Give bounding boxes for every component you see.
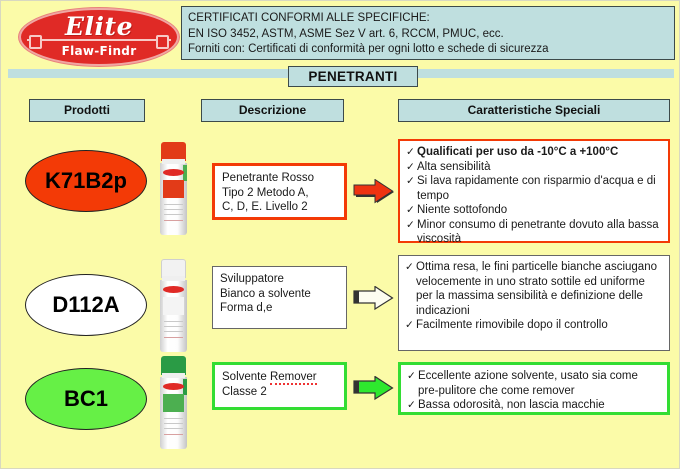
certification-box: CERTIFICATI CONFORMI ALLE SPECIFICHE: EN… [181, 6, 675, 60]
description-line: Sviluppatore [220, 272, 339, 287]
can-brand-label [163, 286, 184, 293]
can-text-lines [164, 202, 183, 228]
arrow-right-icon-0 [353, 179, 397, 205]
description-line: Solvente Remover [222, 370, 337, 385]
can-brand-label [163, 383, 184, 390]
spray-can-image-2 [159, 356, 188, 449]
description-box-0: Penetrante Rosso Tipo 2 Metodo A, C, D, … [212, 163, 347, 220]
product-oval-2: BC1 [25, 368, 147, 430]
feature-item: ✓ Niente sottofondo [406, 203, 662, 218]
check-icon: ✓ [406, 174, 417, 189]
certification-line-3: Forniti con: Certificati di conformità p… [188, 42, 674, 58]
column-header-features: Caratteristiche Speciali [398, 99, 670, 122]
feature-text: Minor consumo di penetrante dovuto alla … [417, 218, 662, 247]
feature-item: ✓ Eccellente azione solvente, usato sia … [407, 369, 661, 398]
column-header-products: Prodotti [29, 99, 145, 122]
feature-text: Alta sensibilità [417, 160, 662, 175]
column-header-description: Descrizione [201, 99, 344, 122]
certification-line-1: CERTIFICATI CONFORMI ALLE SPECIFICHE: [188, 11, 674, 27]
can-brand-label [163, 169, 184, 176]
feature-item: ✓ Ottima resa, le fini particelle bianch… [405, 260, 663, 318]
arrow-right-icon-2 [353, 376, 397, 402]
can-front-label [163, 180, 184, 198]
logo-tagline-text: Flaw-Findr [19, 44, 179, 58]
description-line: Bianco a solvente [220, 287, 339, 302]
can-front-label [163, 394, 184, 412]
description-line: Tipo 2 Metodo A, [222, 186, 337, 201]
feature-item: ✓ Bassa odorosità, non lascia macchie [407, 398, 661, 413]
elite-logo: Elite Flaw-Findr [19, 8, 179, 66]
spray-can-image-1 [159, 259, 188, 352]
features-box-0: ✓ Qualificati per uso da -10°C a +100°C … [398, 139, 670, 243]
features-box-2: ✓ Eccellente azione solvente, usato sia … [398, 362, 670, 415]
feature-text: Niente sottofondo [417, 203, 662, 218]
description-text: Solvente [222, 371, 270, 383]
check-icon: ✓ [406, 160, 417, 175]
feature-text: Facilmente rimovibile dopo il controllo [416, 318, 663, 333]
feature-text: Qualificati per uso da -10°C a +100°C [417, 145, 662, 160]
check-icon: ✓ [406, 203, 417, 218]
feature-text: Ottima resa, le fini particelle bianche … [416, 260, 663, 318]
feature-item: ✓ Minor consumo di penetrante dovuto all… [406, 218, 662, 247]
feature-text: Bassa odorosità, non lascia macchie [418, 398, 661, 413]
spray-can-image-0 [159, 142, 188, 235]
can-text-lines [164, 416, 183, 442]
can-neck [162, 159, 185, 164]
check-icon: ✓ [406, 145, 417, 160]
page-title: PENETRANTI [288, 66, 418, 87]
description-line: C, D, E. Livello 2 [222, 200, 337, 215]
arrow-right-icon-1 [353, 286, 397, 312]
logo-brand-text: Elite [19, 12, 179, 41]
check-icon: ✓ [407, 398, 418, 413]
description-line: Penetrante Rosso [222, 171, 337, 186]
description-box-2: Solvente Remover Classe 2 [212, 362, 347, 410]
can-text-lines [164, 319, 183, 345]
description-line: Classe 2 [222, 385, 337, 400]
features-box-1: ✓ Ottima resa, le fini particelle bianch… [398, 255, 670, 351]
feature-item: ✓ Qualificati per uso da -10°C a +100°C [406, 145, 662, 160]
certification-line-2: EN ISO 3452, ASTM, ASME Sez V art. 6, RC… [188, 27, 674, 43]
check-icon: ✓ [406, 218, 417, 233]
product-oval-1: D112A [25, 274, 147, 336]
check-icon: ✓ [405, 318, 416, 333]
description-box-1: Sviluppatore Bianco a solvente Forma d,e [212, 266, 347, 329]
check-icon: ✓ [407, 369, 418, 384]
check-icon: ✓ [405, 260, 416, 275]
misspelled-word: Remover [270, 371, 317, 385]
product-oval-0: K71B2p [25, 150, 147, 212]
feature-item: ✓ Si lava rapidamente con risparmio d'ac… [406, 174, 662, 203]
feature-item: ✓ Alta sensibilità [406, 160, 662, 175]
can-front-label [163, 297, 184, 315]
feature-text: Eccellente azione solvente, usato sia co… [418, 369, 661, 398]
slide-canvas: Elite Flaw-Findr CERTIFICATI CONFORMI AL… [0, 0, 680, 469]
description-line: Forma d,e [220, 301, 339, 316]
feature-text: Si lava rapidamente con risparmio d'acqu… [417, 174, 662, 203]
can-neck [162, 373, 185, 378]
feature-item: ✓ Facilmente rimovibile dopo il controll… [405, 318, 663, 333]
can-neck [162, 276, 185, 281]
